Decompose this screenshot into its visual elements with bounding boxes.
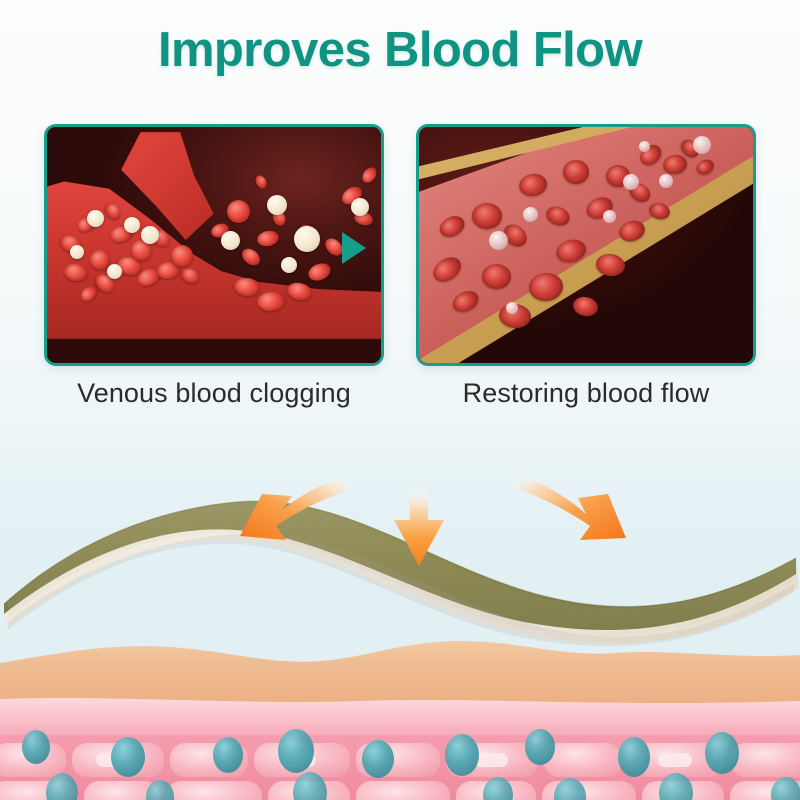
epidermis-layer bbox=[0, 641, 800, 703]
skin-cross-section bbox=[0, 635, 800, 800]
restored-blood-flow-illustration bbox=[419, 127, 753, 363]
clogged-vein-illustration bbox=[47, 127, 381, 363]
poster-root: Improves Blood Flow bbox=[0, 0, 800, 800]
caption-venous-blood-clogging: Venous blood clogging bbox=[34, 378, 394, 409]
panel-restoring-flow bbox=[416, 124, 756, 366]
triangle-right-icon bbox=[342, 232, 366, 264]
page-title: Improves Blood Flow bbox=[0, 22, 800, 78]
arrow-down-icon bbox=[390, 488, 448, 570]
comparison-panels bbox=[0, 124, 800, 372]
caption-restoring-blood-flow: Restoring blood flow bbox=[406, 378, 766, 409]
arrow-down-left-icon bbox=[232, 474, 352, 554]
arrow-down-right-icon bbox=[512, 470, 632, 554]
panel-venous-clogging bbox=[44, 124, 384, 366]
dermis-upper-layer bbox=[0, 698, 800, 739]
